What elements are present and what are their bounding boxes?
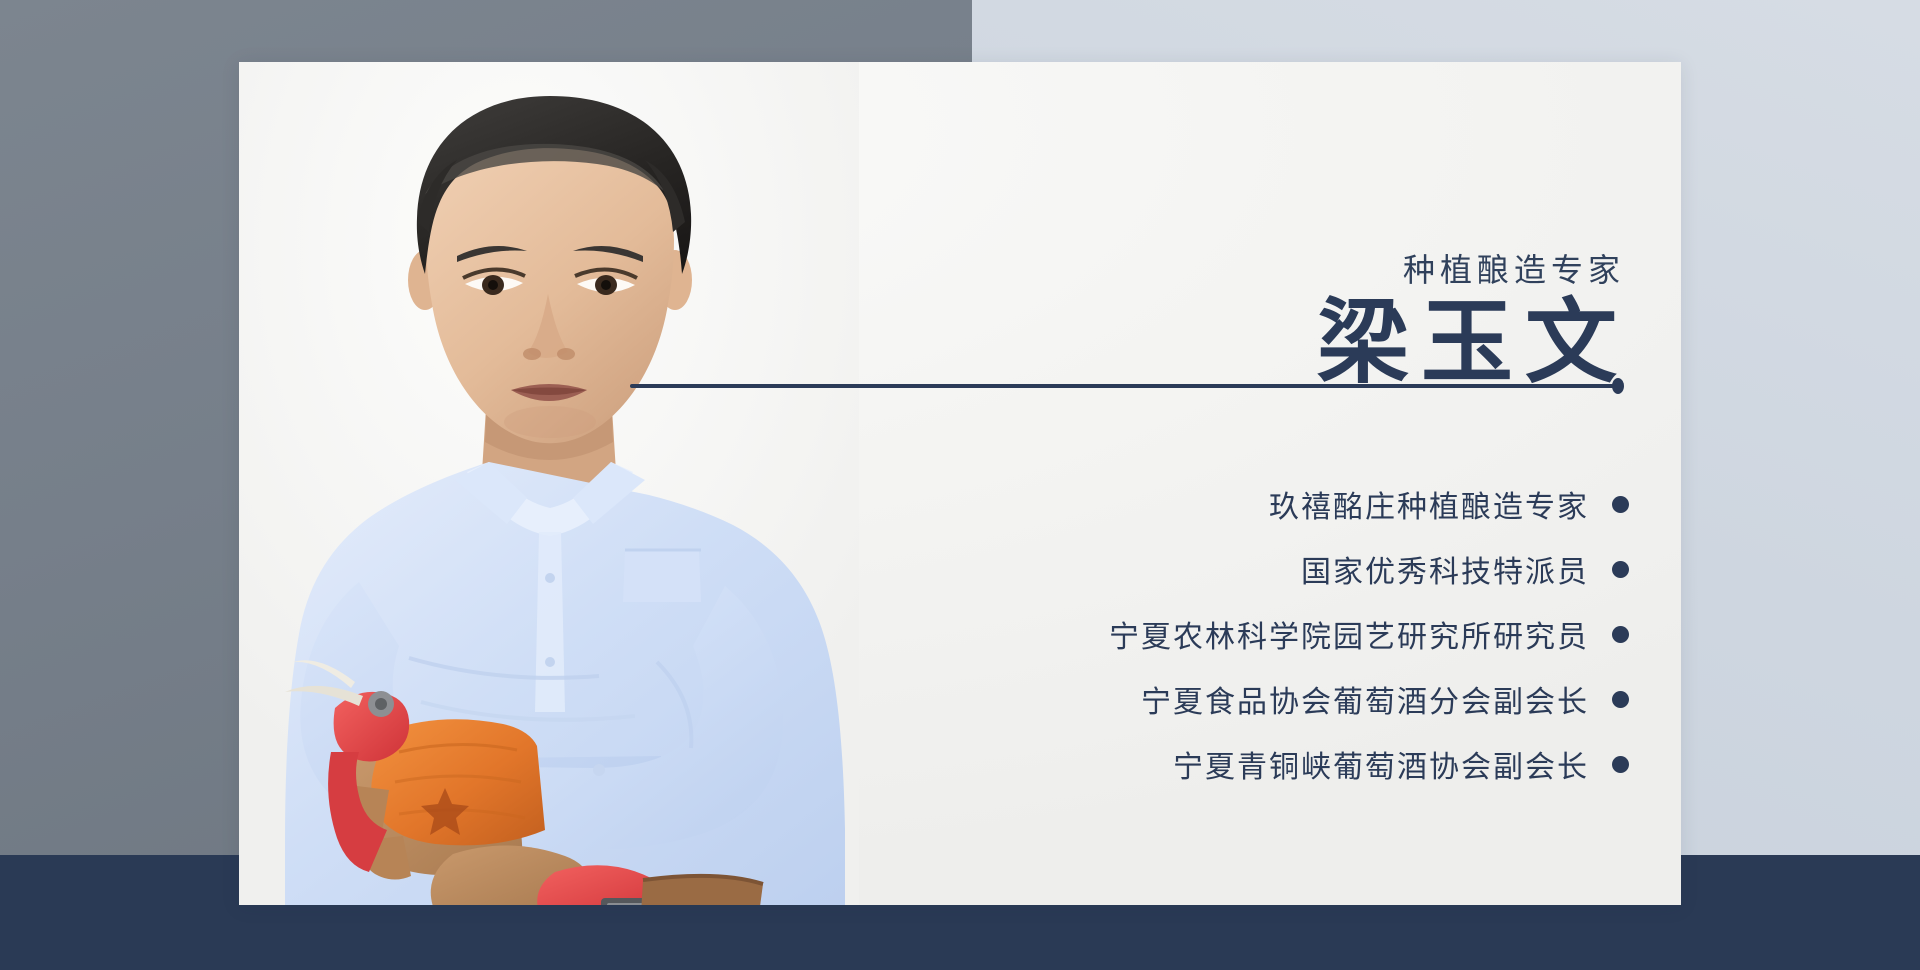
list-item: 国家优秀科技特派员 <box>869 542 1629 596</box>
bullet-dot-icon <box>1612 626 1629 643</box>
poster-stage: 种植酿造专家 梁玉文 玖禧酩庄种植酿造专家 国家优秀科技特派员 宁夏农林科学院园… <box>0 0 1920 970</box>
expert-name: 梁玉文 <box>1317 292 1629 393</box>
divider-end-dot-icon <box>1612 378 1624 394</box>
portrait-photo <box>239 62 859 905</box>
profile-card: 种植酿造专家 梁玉文 玖禧酩庄种植酿造专家 国家优秀科技特派员 宁夏农林科学院园… <box>239 62 1681 905</box>
credential-text: 宁夏农林科学院园艺研究所研究员 <box>1109 612 1589 656</box>
credential-text: 国家优秀科技特派员 <box>1301 547 1589 591</box>
bullet-dot-icon <box>1612 561 1629 578</box>
portrait-illustration <box>239 62 859 905</box>
expert-subtitle: 种植酿造专家 <box>1403 245 1625 291</box>
credentials-list: 玖禧酩庄种植酿造专家 国家优秀科技特派员 宁夏农林科学院园艺研究所研究员 宁夏食… <box>869 477 1629 802</box>
credential-text: 玖禧酩庄种植酿造专家 <box>1269 482 1589 526</box>
bullet-dot-icon <box>1612 496 1629 513</box>
credential-text: 宁夏青铜峡葡萄酒协会副会长 <box>1173 742 1589 786</box>
horizontal-divider <box>630 384 1618 388</box>
bullet-dot-icon <box>1612 691 1629 708</box>
list-item: 宁夏青铜峡葡萄酒协会副会长 <box>869 737 1629 791</box>
list-item: 宁夏食品协会葡萄酒分会副会长 <box>869 672 1629 726</box>
list-item: 宁夏农林科学院园艺研究所研究员 <box>869 607 1629 661</box>
credential-text: 宁夏食品协会葡萄酒分会副会长 <box>1141 677 1589 721</box>
bullet-dot-icon <box>1612 756 1629 773</box>
list-item: 玖禧酩庄种植酿造专家 <box>869 477 1629 531</box>
